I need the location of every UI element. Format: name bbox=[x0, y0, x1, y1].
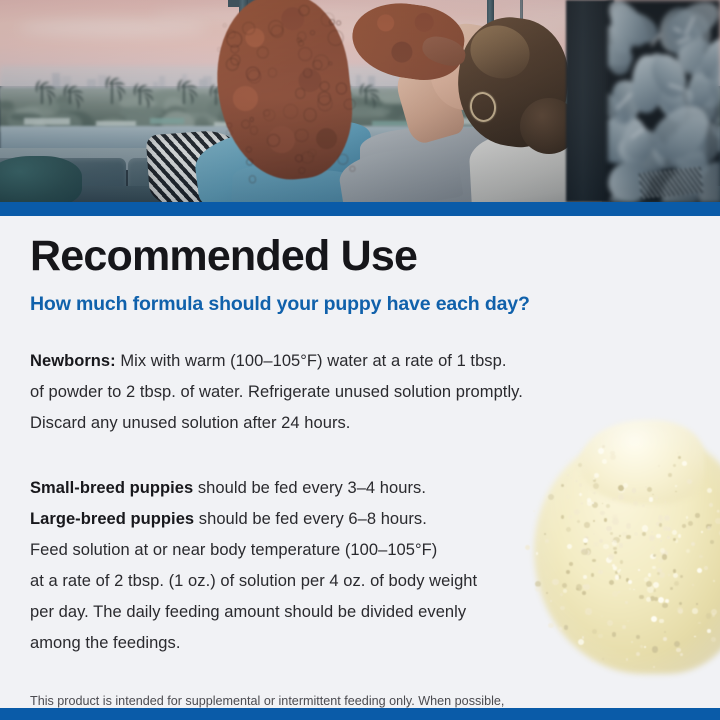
paragraph-lead: Newborns: bbox=[30, 352, 116, 370]
paragraph-line: Large-breed puppies should be fed every … bbox=[30, 504, 690, 535]
page-subtitle: How much formula should your puppy have … bbox=[30, 293, 690, 316]
paragraph-line: Feed solution at or near body temperatur… bbox=[30, 535, 690, 566]
small-breed-lead: Small-breed puppies bbox=[30, 479, 193, 497]
hero-lifestyle-photo bbox=[0, 0, 720, 202]
paragraph-line: of powder to 2 tbsp. of water. Refrigera… bbox=[30, 377, 690, 408]
paragraph-text: Mix with warm (100–105°F) water at a rat… bbox=[116, 352, 507, 370]
disclaimer-line: This product is intended for supplementa… bbox=[30, 691, 618, 708]
hero-photo-canvas bbox=[0, 0, 720, 202]
paragraph-line: among the feedings. bbox=[30, 628, 690, 659]
paragraph-line: Small-breed puppies should be fed every … bbox=[30, 473, 690, 504]
large-breed-lead: Large-breed puppies bbox=[30, 510, 194, 528]
paragraph-breed-feeding: Small-breed puppies should be fed every … bbox=[30, 473, 690, 659]
paragraph-text: should be fed every 3–4 hours. bbox=[193, 479, 426, 497]
paragraph-text: should be fed every 6–8 hours. bbox=[194, 510, 427, 528]
disclaimer-text: This product is intended for supplementa… bbox=[30, 691, 618, 708]
blue-divider-bar bbox=[0, 202, 720, 216]
paragraph-newborns: Newborns: Mix with warm (100–105°F) wate… bbox=[30, 346, 690, 439]
bottom-blue-bar bbox=[0, 708, 720, 720]
paragraph-line: per day. The daily feeding amount should… bbox=[30, 597, 690, 628]
paragraph-line: Discard any unused solution after 24 hou… bbox=[30, 408, 690, 439]
paragraph-line: Newborns: Mix with warm (100–105°F) wate… bbox=[30, 346, 690, 377]
text-content: Recommended Use How much formula should … bbox=[30, 216, 690, 708]
content-panel: Recommended Use How much formula should … bbox=[0, 216, 720, 708]
page-title: Recommended Use bbox=[30, 234, 690, 279]
photo-color-grade bbox=[0, 0, 720, 202]
paragraph-line: at a rate of 2 tbsp. (1 oz.) of solution… bbox=[30, 566, 690, 597]
